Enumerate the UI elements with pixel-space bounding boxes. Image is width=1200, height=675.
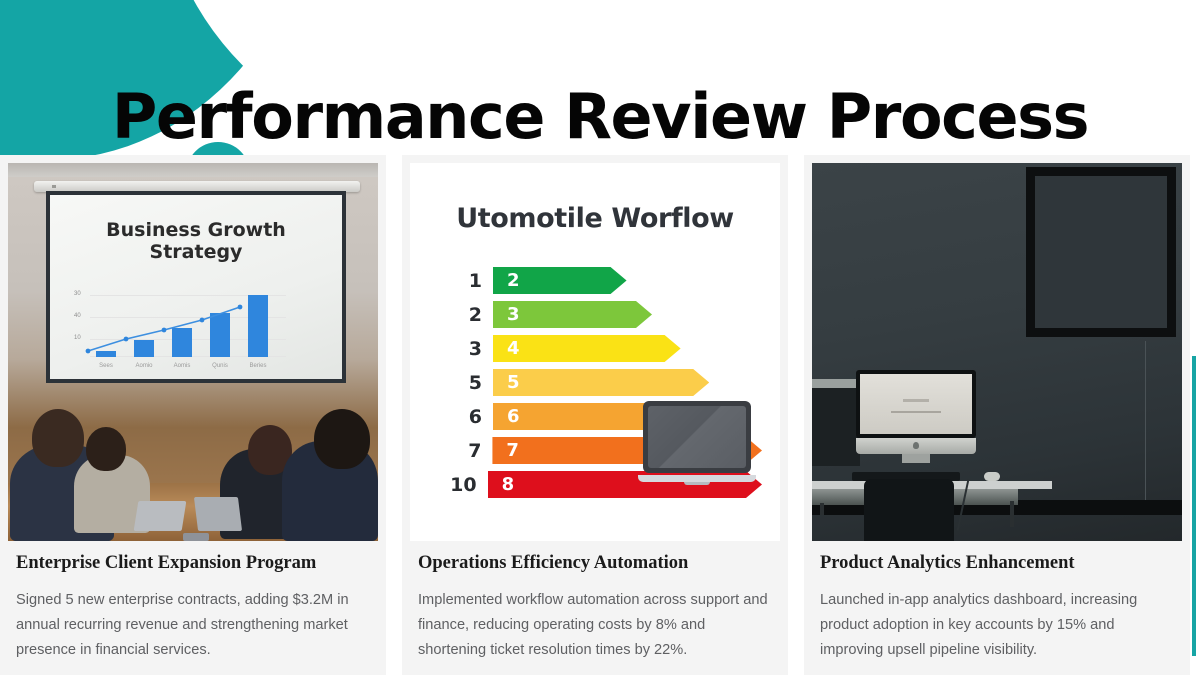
arrow-bar: 4	[493, 335, 681, 362]
screen-title-line2: Strategy	[150, 241, 243, 263]
card-product-analytics-enhancement[interactable]: Product Analytics Enhancement Launched i…	[804, 155, 1190, 675]
x-tick-4: Beries	[239, 363, 277, 369]
arrow-rank: 5	[444, 372, 493, 394]
meeting-attendees	[8, 399, 378, 541]
card-media-boardroom-photo: Business Growth Strategy 30 40 10	[8, 163, 378, 541]
boardroom-photo: Business Growth Strategy 30 40 10	[8, 163, 378, 541]
slide-root: Performance Review Process Business Grow…	[0, 0, 1200, 675]
page-title: Performance Review Process	[0, 86, 1200, 148]
card-description: Signed 5 new enterprise contracts, addin…	[16, 588, 372, 663]
x-tick-0: Sees	[87, 363, 125, 369]
arrow-rank: 6	[444, 406, 493, 428]
imac-chin	[856, 438, 976, 454]
card-row: Business Growth Strategy 30 40 10	[0, 155, 1200, 675]
arrow-row: 1 2	[444, 267, 762, 294]
arrow-rank: 7	[444, 440, 492, 462]
laptop-2	[194, 497, 242, 531]
trend-line	[74, 293, 286, 369]
ceiling-strip	[8, 163, 378, 177]
card-enterprise-client-expansion[interactable]: Business Growth Strategy 30 40 10	[0, 155, 386, 675]
person-4-head	[314, 409, 370, 469]
desk-leg-left	[820, 503, 824, 515]
x-tick-2: Aomis	[163, 363, 201, 369]
growth-bar-chart: 30 40 10	[74, 293, 286, 369]
card-title: Operations Efficiency Automation	[418, 553, 774, 574]
person-1-head	[32, 409, 84, 467]
desk-leg-right	[1010, 501, 1014, 527]
office-chair	[864, 479, 954, 541]
imac-computer	[856, 370, 976, 463]
dark-office-photo	[812, 163, 1182, 541]
card-title: Enterprise Client Expansion Program	[16, 553, 372, 574]
laptop-screen	[648, 406, 746, 468]
workflow-infographic: Utomotile Worflow 1 2 2 3 3 4	[410, 163, 780, 541]
arrow-bar: 2	[493, 267, 627, 294]
arrow-row: 5 5	[444, 369, 762, 396]
card-media-workflow-infographic: Utomotile Worflow 1 2 2 3 3 4	[410, 163, 780, 541]
x-tick-1: Aomio	[125, 363, 163, 369]
arrow-rank: 10	[444, 474, 488, 496]
card-body: Enterprise Client Expansion Program Sign…	[0, 541, 386, 663]
display-content-line-1	[903, 399, 930, 402]
card-body: Product Analytics Enhancement Launched i…	[804, 541, 1190, 663]
arrow-rank: 1	[444, 270, 493, 292]
arrow-row: 3 4	[444, 335, 762, 362]
mouse	[984, 472, 1000, 481]
laptop-illustration	[638, 401, 756, 485]
phone-on-table	[183, 533, 209, 541]
card-description: Launched in-app analytics dashboard, inc…	[820, 588, 1176, 663]
card-body: Operations Efficiency Automation Impleme…	[402, 541, 788, 663]
arrow-rank: 3	[444, 338, 493, 360]
card-title: Product Analytics Enhancement	[820, 553, 1176, 574]
screen-title: Business Growth Strategy	[50, 219, 342, 264]
arrow-bar: 3	[493, 301, 652, 328]
laptop-base	[638, 475, 756, 482]
card-operations-efficiency-automation[interactable]: Utomotile Worflow 1 2 2 3 3 4	[402, 155, 788, 675]
imac-stand	[902, 454, 930, 463]
projection-screen: Business Growth Strategy 30 40 10	[50, 195, 342, 379]
arrow-rank: 2	[444, 304, 493, 326]
screen-title-line1: Business Growth	[106, 219, 286, 241]
imac-bezel	[856, 370, 976, 438]
laptop-1	[134, 501, 187, 531]
laptop-lid	[643, 401, 751, 473]
card-description: Implemented workflow automation across s…	[418, 588, 774, 663]
arrow-bar: 5	[493, 369, 709, 396]
x-tick-3: Qunis	[201, 363, 239, 369]
person-2-head	[86, 427, 126, 471]
side-counter-body	[812, 388, 860, 466]
arrow-row: 2 3	[444, 301, 762, 328]
card-media-dark-office-photo	[812, 163, 1182, 541]
wall-seam-line	[1145, 341, 1146, 503]
wall-frame	[1026, 167, 1176, 337]
laptop-notch	[684, 482, 710, 485]
display-content-line-2	[891, 411, 940, 413]
imac-display	[860, 374, 972, 434]
infographic-title: Utomotile Worflow	[410, 203, 780, 234]
